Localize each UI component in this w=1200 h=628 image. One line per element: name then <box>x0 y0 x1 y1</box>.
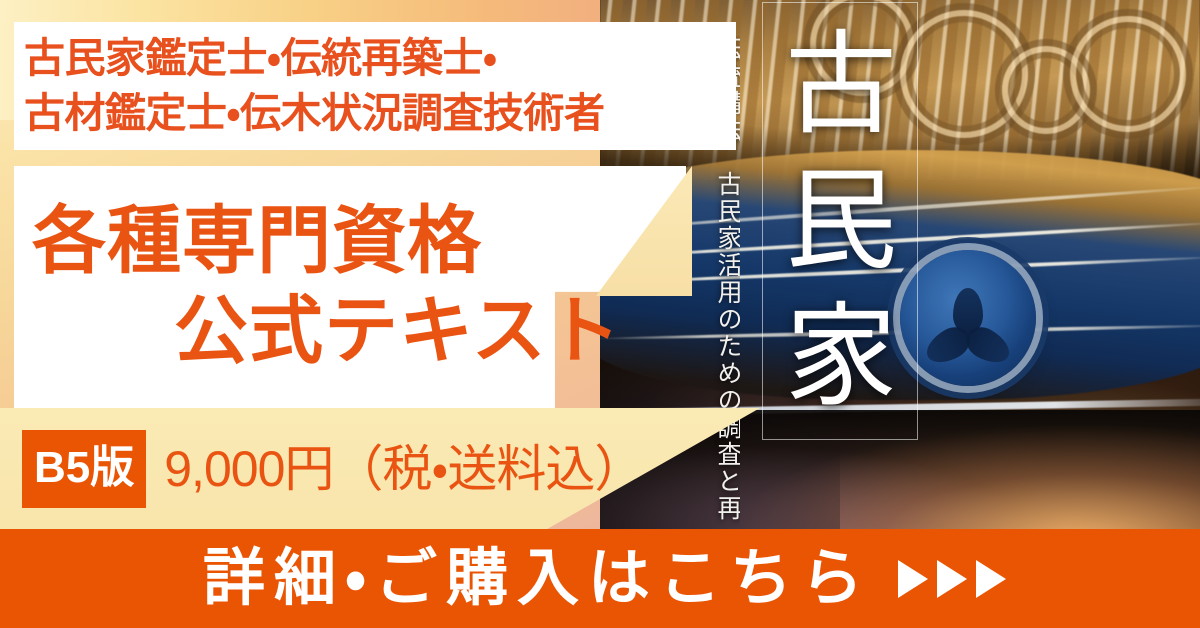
photo-crest-roundel <box>900 250 1036 386</box>
title-text-group: 各種専門資格 公式テキスト <box>14 166 686 408</box>
heading-text-group: 古民家鑑定士・伝統再築士・ 古材鑑定士・伝木状況調査技術者 <box>14 22 736 150</box>
title-line-2: 公式テキスト <box>14 286 686 376</box>
triangle-right-icon <box>937 560 967 598</box>
format-badge-b5: B5版 <box>22 430 146 508</box>
title-line-1: 各種専門資格 <box>14 196 686 286</box>
book-promo-banner[interactable]: 伝統構法 古民家活用のための調査と再生の 古 民 家 古民家鑑定士・伝統再築士・… <box>0 0 1200 628</box>
price-row: B5版 9,000円（税・送料込） <box>22 430 643 508</box>
cta-arrow-group <box>898 560 1006 598</box>
heading-line-1: 古民家鑑定士・伝統再築士・ <box>24 31 736 86</box>
price-amount: 9,000円（税・送料込） <box>164 444 643 494</box>
heading-line-2: 古材鑑定士・伝木状況調査技術者 <box>24 86 736 141</box>
triangle-right-icon <box>976 560 1006 598</box>
photo-swirl-ornament <box>1070 16 1186 132</box>
cta-bar[interactable]: 詳細・ご購入はこちら <box>0 529 1200 628</box>
triangle-right-icon <box>898 560 928 598</box>
cta-label: 詳細・ご購入はこちら <box>194 548 872 610</box>
